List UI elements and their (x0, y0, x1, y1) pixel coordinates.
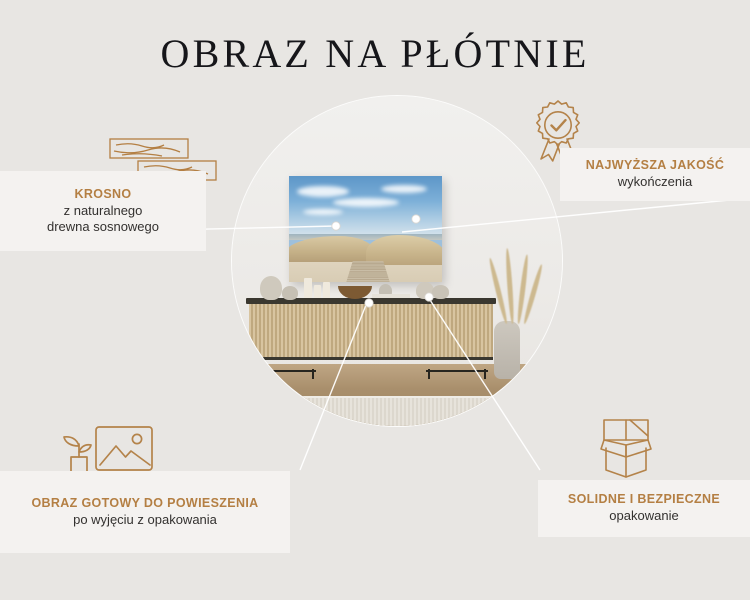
feature-panel-jakosc[interactable]: NAJWYŻSZA JAKOŚĆ wykończenia (560, 148, 750, 201)
canvas-artwork (289, 176, 442, 282)
feature-subtext-line2: drewna sosnowego (47, 219, 159, 235)
sideboard-fluted-front (249, 304, 493, 360)
stacked-books (372, 294, 410, 298)
artwork-dune-left (289, 236, 374, 261)
feature-subtext-line1: opakowanie (609, 508, 678, 524)
sideboard-leg (484, 369, 486, 379)
feature-panel-gotowy[interactable]: OBRAZ GOTOWY DO POWIESZENIA po wyjęciu z… (0, 471, 290, 553)
feature-subtext-line1: po wyjęciu z opakowania (73, 512, 217, 528)
ceramic-vase (432, 285, 449, 299)
sideboard-furniture (246, 298, 496, 370)
infographic-canvas: OBRAZ NA PŁÓTNIE (0, 0, 750, 600)
feature-subtext-line1: z naturalnego (64, 203, 143, 219)
pillar-candle (314, 285, 321, 298)
sideboard-leg (428, 369, 430, 379)
feature-heading: NAJWYŻSZA JAKOŚĆ (586, 158, 724, 172)
product-scene-circle (232, 96, 562, 426)
artwork-cloud (297, 186, 349, 197)
feature-panel-krosno[interactable]: KROSNO z naturalnego drewna sosnowego (0, 171, 206, 251)
feature-heading: KROSNO (75, 187, 132, 201)
pillar-candle (304, 278, 312, 298)
feature-subtext-line1: wykończenia (618, 174, 692, 190)
sideboard-leg (312, 369, 314, 379)
pampas-stem (505, 248, 515, 324)
sideboard-rail (426, 370, 488, 372)
page-title: OBRAZ NA PŁÓTNIE (0, 30, 750, 77)
room-background (232, 96, 562, 426)
feature-heading: SOLIDNE I BEZPIECZNE (568, 492, 720, 506)
sideboard-leg (256, 369, 258, 379)
ceramic-vase (260, 276, 282, 300)
artwork-cloud (333, 198, 399, 207)
floor-vase (494, 321, 520, 379)
artwork-cloud (303, 209, 343, 215)
artwork-boardwalk (347, 262, 390, 282)
artwork-cloud (381, 185, 427, 193)
sideboard-rail (254, 370, 316, 372)
ceramic-bowl (282, 286, 298, 300)
feature-panel-opakowanie[interactable]: SOLIDNE I BEZPIECZNE opakowanie (538, 480, 750, 537)
cardboard-box-icon (597, 417, 655, 484)
pillar-candle (323, 282, 330, 298)
area-rug (232, 396, 562, 426)
feature-heading: OBRAZ GOTOWY DO POWIESZENIA (31, 496, 258, 510)
